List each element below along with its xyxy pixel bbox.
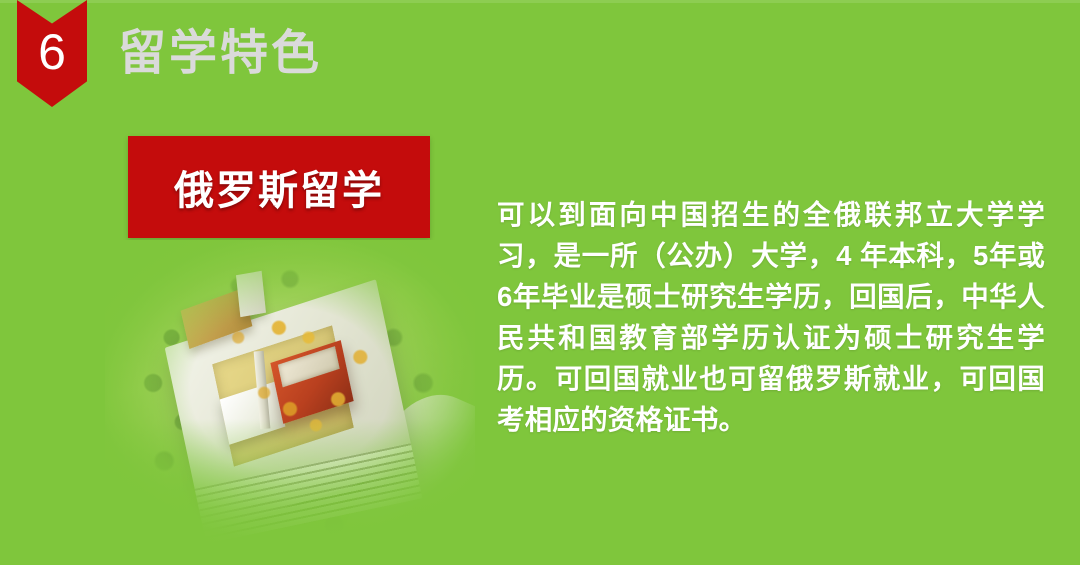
- topic-ribbon: 俄罗斯留学: [128, 136, 430, 238]
- left-column: 俄罗斯留学: [0, 115, 480, 565]
- slide-header: 6 留学特色: [0, 0, 1080, 115]
- slide-root: 6 留学特色 俄罗斯留学 可以到面向中国招生的全俄联邦立大学学习: [0, 0, 1080, 565]
- section-number-label: 6: [17, 24, 87, 80]
- topic-ribbon-label: 俄罗斯留学: [128, 136, 430, 238]
- campus-photo: [105, 240, 475, 565]
- section-number-badge: 6: [17, 0, 87, 107]
- body-paragraph: 可以到面向中国招生的全俄联邦立大学学习，是一所（公办）大学，4 年本科，5年或6…: [497, 194, 1045, 440]
- campus-photo-image: [105, 240, 475, 565]
- autumn-tree-texture: [105, 240, 475, 565]
- page-title: 留学特色: [118, 23, 322, 85]
